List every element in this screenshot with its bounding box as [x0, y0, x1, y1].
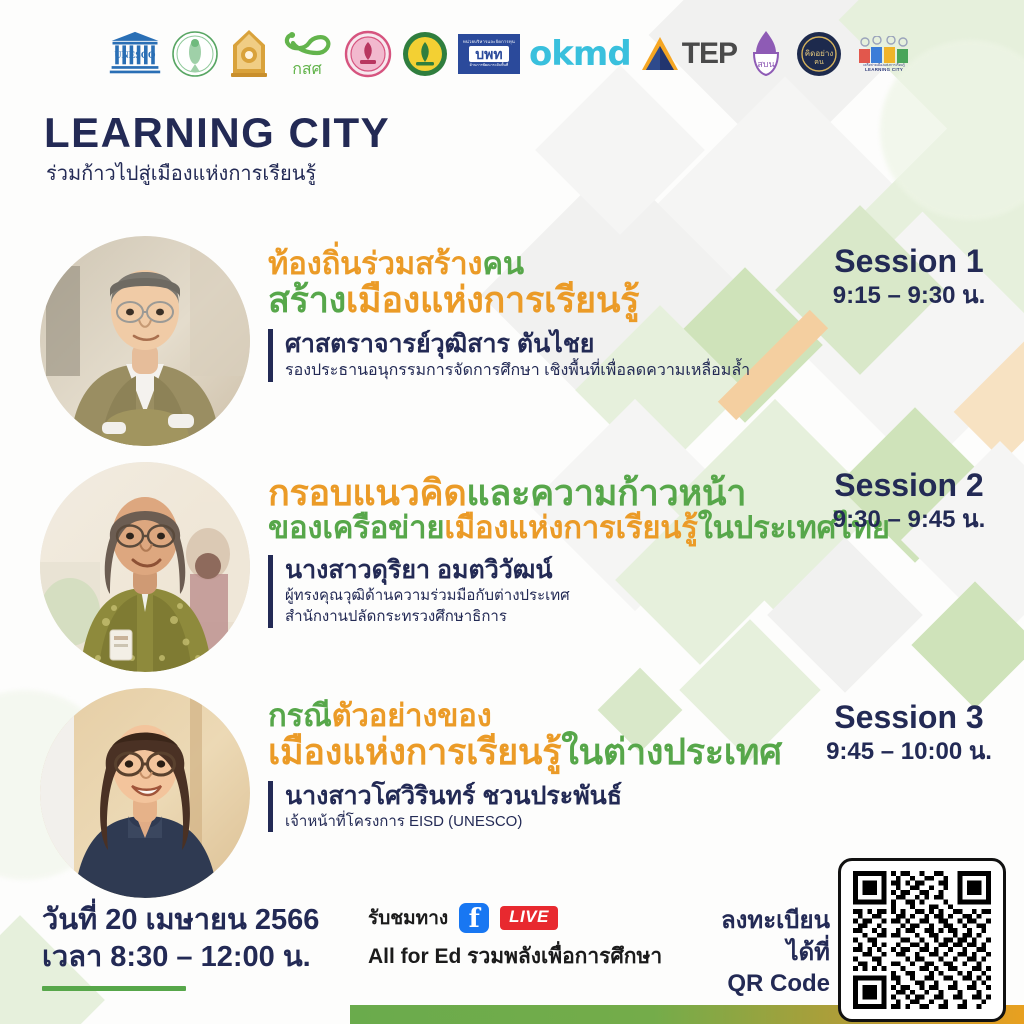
bpt-logo-bottom-text: ด้านการพัฒนาระดับพื้นที่: [470, 64, 509, 68]
bg-diamond: [911, 581, 1024, 708]
session-1-topic: ท้องถิ่นร่วมสร้างคน สร้างเมืองแห่งการเรี…: [268, 248, 750, 319]
page-subtitle: ร่วมก้าวไปสู่เมืองแห่งการเรียนรู้: [46, 162, 390, 186]
svg-text:UNESCO: UNESCO: [114, 50, 155, 61]
session-1-label: Session 1: [794, 244, 1024, 279]
kosos-logo: กสศ: [279, 29, 335, 79]
qr-code-image: [851, 871, 993, 1009]
learning-city-logo-caption: LEARNING CITY: [865, 67, 903, 72]
session-1-topic-line2: สร้างเมืองแห่งการเรียนรู้: [268, 281, 750, 319]
session-1-speaker-role: รองประธานอนุกรรมการจัดการศึกษา เชิงพื้นท…: [285, 360, 750, 382]
page-title: LEARNING CITY: [44, 112, 390, 154]
live-badge: LIVE: [500, 906, 558, 930]
session-row-2: กรอบแนวคิดและความก้าวหน้า ของเครือข่ายเม…: [40, 462, 890, 672]
session-row-3: กรณีตัวอย่างของ เมืองแห่งการเรียนรู้ในต่…: [40, 688, 782, 898]
gold-temple-emblem-logo: [228, 29, 270, 79]
learning-city-logo: เครือข่ายเมืองแห่งการเรียนรู้ LEARNING C…: [852, 30, 916, 78]
session-2-speaker: นางสาวดุริยา อมตวิวัฒน์ ผู้ทรงคุณวุฒิด้า…: [268, 555, 890, 628]
session-3-label: Session 3: [794, 700, 1024, 735]
session-2-label: Session 2: [794, 468, 1024, 503]
session-row-1: ท้องถิ่นร่วมสร้างคน สร้างเมืองแห่งการเรี…: [40, 236, 750, 446]
session-2-speaker-role-1: ผู้ทรงคุณวุฒิด้านความร่วมมือกับต่างประเท…: [285, 586, 890, 606]
bpt-logo-mark: บพท: [469, 46, 508, 62]
svg-text:กสศ: กสศ: [292, 61, 322, 78]
channel-name: All for Ed รวมพลังเพื่อการศึกษา: [368, 940, 662, 973]
pink-emblem-logo: [344, 30, 392, 78]
bpt-logo: หน่วยบริหารและจัดการทุน บพท ด้านการพัฒนา…: [458, 34, 520, 74]
speaker-photo-1: [40, 236, 250, 446]
session-3-content: กรณีตัวอย่างของ เมืองแห่งการเรียนรู้ในต่…: [268, 688, 782, 832]
speaker-photo-2: [40, 462, 250, 672]
session-1-content: ท้องถิ่นร่วมสร้างคน สร้างเมืองแห่งการเรี…: [268, 236, 750, 382]
unesco-logo: UNESCO: [108, 30, 162, 78]
qr-caption-line1: ลงทะเบียนได้ที่: [690, 905, 830, 968]
session-3-meta: Session 3 9:45 – 10:00 น.: [794, 700, 1024, 767]
bpt-logo-top-text: หน่วยบริหารและจัดการทุน: [463, 40, 515, 44]
session-2-time: 9:30 – 9:45 น.: [794, 505, 1024, 535]
event-time: เวลา 8:30 – 12:00 น.: [42, 939, 319, 976]
tep-logo-text: TEP: [682, 37, 737, 71]
session-3-speaker: นางสาวโศวิรินทร์ ชวนประพันธ์ เจ้าหน้าที่…: [268, 781, 782, 832]
watch-block: รับชมทาง f LIVE All for Ed รวมพลังเพื่อก…: [368, 903, 662, 973]
okmd-logo: okmd: [529, 37, 631, 71]
session-3-topic: กรณีตัวอย่างของ เมืองแห่งการเรียนรู้ในต่…: [268, 700, 782, 771]
svg-text:คิดอย่าง: คิดอย่าง: [805, 49, 834, 58]
session-3-speaker-name: นางสาวโศวิรินทร์ ชวนประพันธ์: [285, 781, 782, 811]
session-1-speaker-name: ศาสตราจารย์วุฒิสาร ตันไชย: [285, 329, 750, 359]
event-date: วันที่ 20 เมษายน 2566: [42, 902, 319, 939]
session-1-topic-line1: ท้องถิ่นร่วมสร้างคน: [268, 248, 750, 281]
qr-caption-line2: QR Code: [690, 968, 830, 1000]
poster-canvas: UNESCO กส: [0, 0, 1024, 1024]
svg-text:ฅน: ฅน: [814, 59, 824, 66]
speaker-photo-3: [40, 688, 250, 898]
navy-circle-logo: คิดอย่าง ฅน: [795, 30, 843, 78]
session-2-meta: Session 2 9:30 – 9:45 น.: [794, 468, 1024, 535]
session-3-time: 9:45 – 10:00 น.: [794, 737, 1024, 767]
session-1-time: 9:15 – 9:30 น.: [794, 281, 1024, 311]
bg-diamond: [535, 65, 705, 235]
session-2-speaker-name: นางสาวดุริยา อมตวิวัฒน์: [285, 555, 890, 585]
bg-diamond-orange: [954, 299, 1024, 462]
qr-code[interactable]: [838, 858, 1006, 1022]
session-2-speaker-role-2: สำนักงานปลัดกระทรวงศึกษาธิการ: [285, 607, 890, 627]
event-date-block: วันที่ 20 เมษายน 2566 เวลา 8:30 – 12:00 …: [42, 902, 319, 991]
green-emblem-logo: [171, 30, 219, 78]
session-1-speaker: ศาสตราจารย์วุฒิสาร ตันไชย รองประธานอนุกร…: [268, 329, 750, 382]
partner-logo-bar: UNESCO กส: [0, 24, 1024, 84]
watch-label: รับชมทาง: [368, 903, 448, 933]
tep-triangle-icon: [640, 34, 680, 74]
session-3-speaker-role: เจ้าหน้าที่โครงการ EISD (UNESCO): [285, 812, 782, 832]
tep-logo: TEP: [640, 34, 737, 74]
poster-heading: LEARNING CITY ร่วมก้าวไปสู่เมืองแห่งการเ…: [44, 112, 390, 186]
session-3-topic-line1: กรณีตัวอย่างของ: [268, 700, 782, 733]
session-3-topic-line2: เมืองแห่งการเรียนรู้ในต่างประเทศ: [268, 733, 782, 771]
svg-text:สบน: สบน: [757, 59, 774, 69]
session-1-meta: Session 1 9:15 – 9:30 น.: [794, 244, 1024, 311]
qr-caption-block: ลงทะเบียนได้ที่ QR Code: [690, 905, 830, 1000]
facebook-f-glyph: f: [459, 906, 489, 932]
facebook-icon[interactable]: f: [459, 903, 489, 933]
purple-emblem-logo: สบน: [746, 29, 786, 79]
green-divider: [42, 986, 186, 991]
watch-row: รับชมทาง f LIVE: [368, 903, 662, 933]
yellow-green-emblem-logo: [401, 30, 449, 78]
